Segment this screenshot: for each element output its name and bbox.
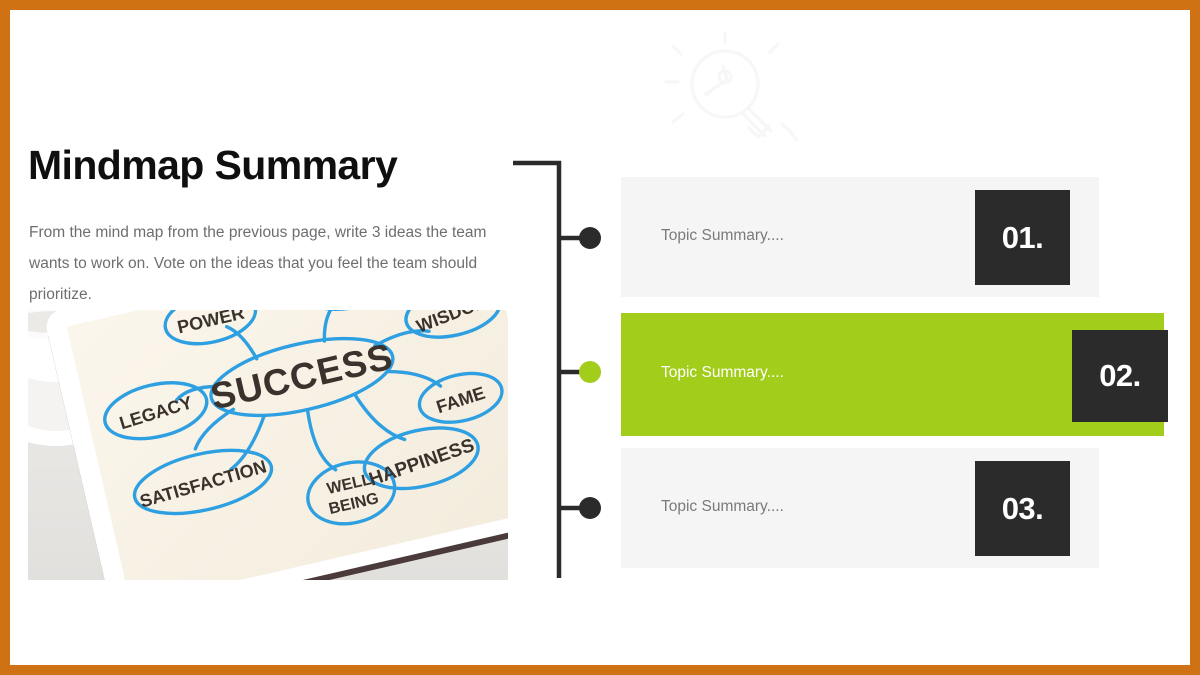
topic-card-3[interactable]: Topic Summary.... 03. (621, 448, 1099, 568)
topic-card-1-number-box: 01. (975, 190, 1070, 285)
timeline-marker-2 (579, 361, 601, 383)
topic-card-1-label: Topic Summary.... (661, 227, 784, 245)
topic-card-3-number: 03. (1002, 491, 1044, 527)
topic-card-2-label: Topic Summary.... (661, 364, 784, 382)
topic-card-2[interactable]: Topic Summary.... 02. (621, 313, 1164, 436)
topic-card-3-label: Topic Summary.... (661, 498, 784, 516)
topic-card-3-number-box: 03. (975, 461, 1070, 556)
page-title: Mindmap Summary (28, 142, 397, 189)
timeline-marker-1 (579, 227, 601, 249)
intro-paragraph: From the mind map from the previous page… (29, 217, 507, 310)
topic-card-2-number-box: 02. (1072, 330, 1168, 422)
topic-card-1[interactable]: Topic Summary.... 01. (621, 177, 1099, 297)
lightbulb-icon (645, 32, 810, 147)
slide-canvas: Mindmap Summary From the mind map from t… (10, 10, 1190, 665)
mindmap-photo: SUCCESS LEGACY POWER HEALTH WISDOM FAME … (28, 310, 508, 580)
topic-card-2-number: 02. (1099, 358, 1141, 394)
topic-card-1-number: 01. (1002, 220, 1044, 256)
timeline-marker-3 (579, 497, 601, 519)
slide-frame: Mindmap Summary From the mind map from t… (0, 0, 1200, 675)
